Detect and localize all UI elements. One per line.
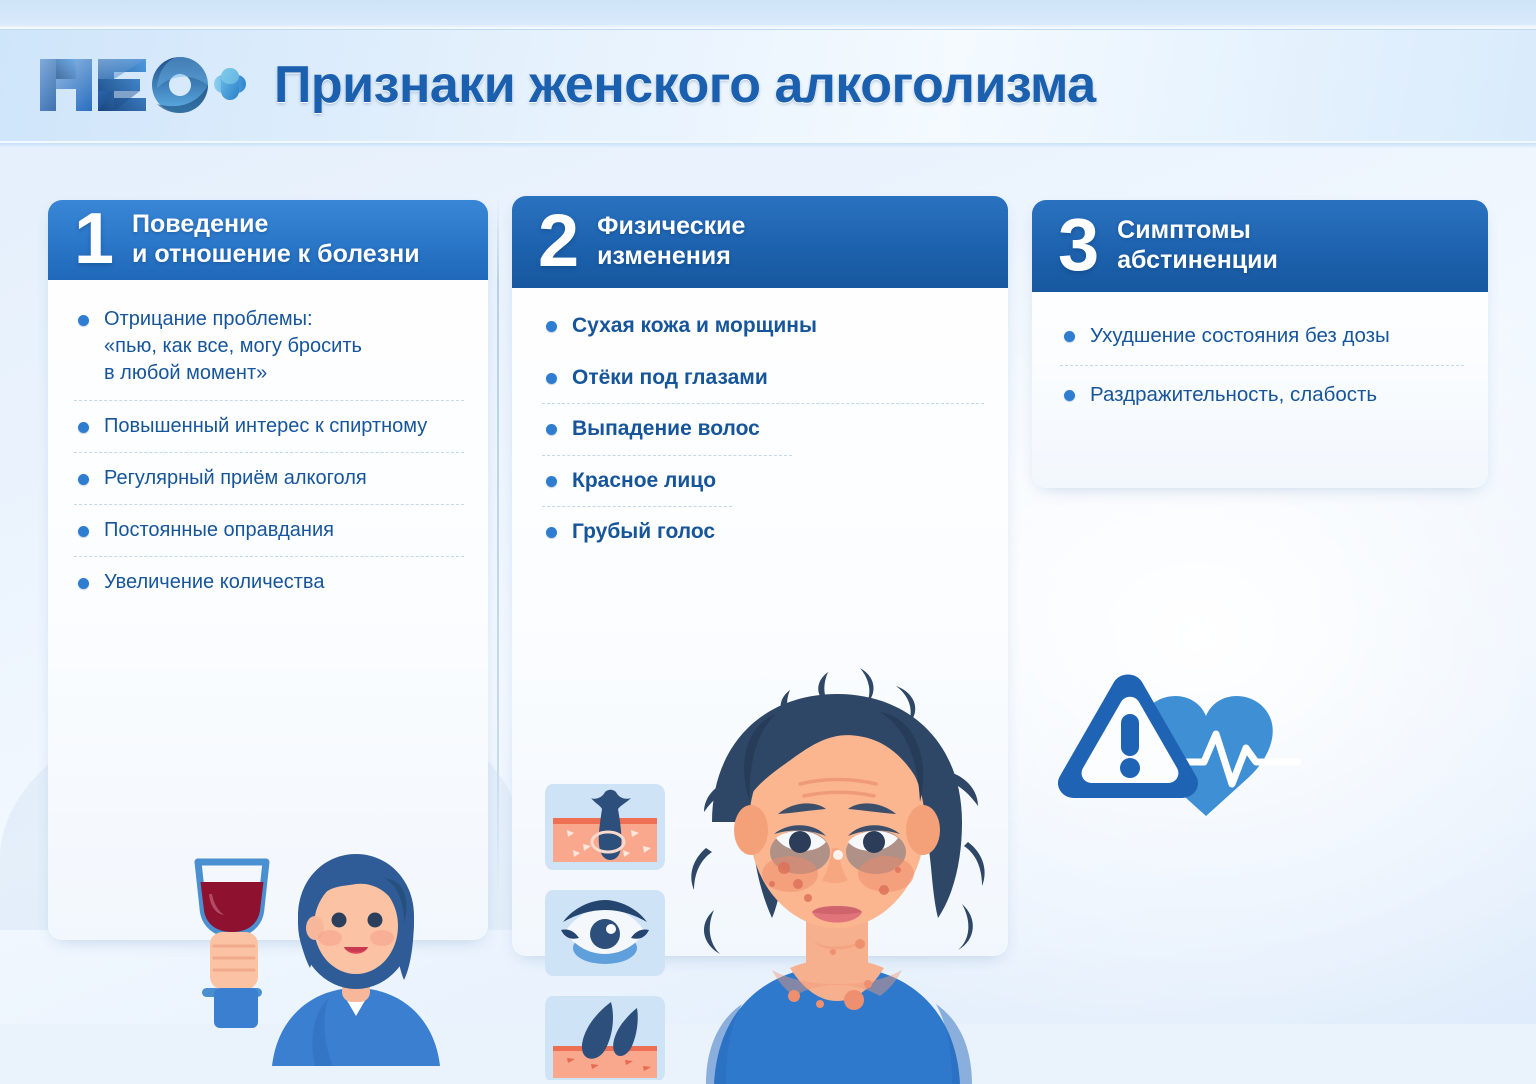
list-item-text: Отрицание проблемы:	[104, 306, 466, 333]
list-item-text: Красное лицо	[572, 467, 986, 496]
symptom-icon-stack	[545, 780, 673, 1080]
list-item: Отрицание проблемы: «пью, как все, могу …	[74, 306, 466, 388]
page-header: Признаки женского алкоголизма	[0, 27, 1536, 143]
column-2-title-line1: Физические	[597, 212, 745, 240]
list-item: Регулярный приём алкоголя	[74, 465, 466, 492]
bullet-dot	[78, 474, 89, 485]
tired-woman-face-illustration	[672, 652, 1002, 1084]
list-separator	[542, 455, 792, 456]
column-1-list: Отрицание проблемы: «пью, как все, могу …	[48, 280, 488, 606]
list-item: Выпадение волос	[542, 415, 986, 444]
bullet-dot	[78, 526, 89, 537]
tired-eye-icon	[545, 890, 665, 976]
top-strip	[0, 0, 1536, 25]
list-item-text: Постоянные оправдания	[104, 517, 466, 544]
column-card-3: 3 Симптомы абстиненции Ухудшение состоян…	[1032, 200, 1488, 488]
bullet-dot	[1064, 390, 1075, 401]
list-item-text: Отёки под глазами	[572, 364, 986, 393]
column-3-title: Симптомы абстиненции	[1117, 215, 1278, 276]
list-separator	[74, 504, 464, 505]
list-separator	[1060, 365, 1464, 366]
column-2-header: 2 Физические изменения	[512, 196, 1008, 288]
bullet-dot	[546, 476, 557, 487]
bullet-dot	[78, 578, 89, 589]
list-separator	[542, 506, 732, 507]
list-item: Сухая кожа и морщины	[542, 312, 986, 341]
bullet-dot	[546, 321, 557, 332]
bullet-dot	[78, 315, 89, 326]
neo-plus-logo[interactable]	[36, 53, 248, 117]
list-separator	[74, 556, 464, 557]
list-separator	[542, 403, 984, 404]
list-item-text: Грубый голос	[572, 518, 986, 547]
list-item: Постоянные оправдания	[74, 517, 466, 544]
hair-loss-follicle-icon	[545, 996, 665, 1080]
page-title: Признаки женского алкоголизма	[274, 55, 1096, 115]
columns-container: 1 Поведение и отношение к болезни Отрица…	[0, 160, 1536, 1024]
list-item-text: Повышенный интерес к спиртному	[104, 413, 466, 440]
bullet-dot	[1064, 331, 1075, 342]
column-1-title-line2: и отношение к болезни	[132, 239, 420, 270]
column-2-title-line2: изменения	[597, 241, 745, 272]
woman-with-wine-glass-illustration	[176, 820, 488, 1082]
list-separator	[74, 400, 464, 401]
bullet-dot	[546, 527, 557, 538]
list-item: Грубый голос	[542, 518, 986, 547]
list-item-text: Выпадение волос	[572, 415, 986, 444]
list-item-text: Увеличение количества	[104, 569, 466, 596]
bullet-dot	[78, 422, 89, 433]
bullet-dot	[546, 373, 557, 384]
column-3-title-line2: абстиненции	[1117, 245, 1278, 276]
list-item-text: Раздражительность, слабость	[1090, 381, 1466, 409]
bullet-dot	[546, 424, 557, 435]
list-item: Отёки под глазами	[542, 364, 986, 393]
list-separator	[74, 452, 464, 453]
list-item: Раздражительность, слабость	[1060, 381, 1466, 409]
list-item-text: «пью, как все, могу бросить	[104, 333, 466, 360]
list-item: Повышенный интерес к спиртному	[74, 413, 466, 440]
column-3-number: 3	[1058, 216, 1099, 274]
skin-pore-icon	[545, 784, 665, 870]
list-item-text: Ухудшение состояния без дозы	[1090, 322, 1466, 350]
list-item: Красное лицо	[542, 467, 986, 496]
list-item: Увеличение количества	[74, 569, 466, 596]
column-1-header: 1 Поведение и отношение к болезни	[48, 200, 488, 280]
infographic-canvas: Признаки женского алкоголизма 1 Поведени…	[0, 0, 1536, 1024]
column-3-header: 3 Симптомы абстиненции	[1032, 200, 1488, 292]
column-1-number: 1	[74, 211, 114, 267]
list-separator	[542, 352, 984, 353]
column-3-title-line1: Симптомы	[1117, 216, 1251, 244]
column-1-title-line1: Поведение	[132, 210, 268, 238]
list-item-text: в любой момент»	[104, 360, 466, 387]
column-2-list: Сухая кожа и морщины Отёки под глазами В…	[512, 288, 1008, 557]
column-3-list: Ухудшение состояния без дозы Раздражител…	[1032, 292, 1488, 419]
list-item-text: Регулярный приём алкоголя	[104, 465, 466, 492]
column-1-title: Поведение и отношение к болезни	[132, 209, 420, 270]
column-divider	[497, 198, 499, 898]
withdrawal-risk-icon-group	[1052, 672, 1328, 828]
column-2-title: Физические изменения	[597, 211, 745, 272]
list-item: Ухудшение состояния без дозы	[1060, 322, 1466, 350]
list-item-text: Сухая кожа и морщины	[572, 312, 986, 341]
column-2-number: 2	[538, 212, 579, 270]
